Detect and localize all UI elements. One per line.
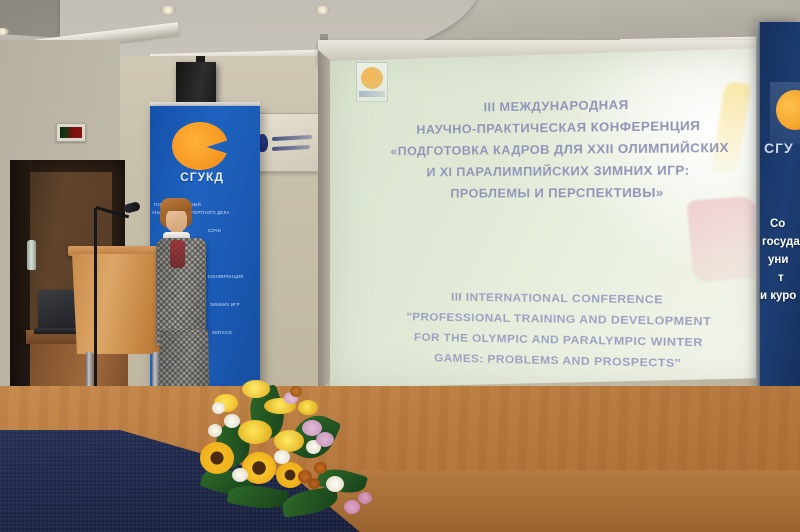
banner-right-text-line: т [778, 272, 784, 284]
exit-sign-label: illuminated-display [57, 124, 65, 125]
banner-right-text-line: и куро [760, 290, 796, 302]
banner-left-text-line: КОНФЕРЕНЦИЯ [208, 274, 243, 279]
projection-screen: III МЕЖДУНАРОДНАЯ НАУЧНО-ПРАКТИЧЕСКАЯ КО… [330, 48, 768, 388]
flower-yellow [298, 400, 318, 415]
person-scarf [170, 240, 185, 268]
stage-front [330, 470, 800, 532]
display-screen [60, 127, 82, 138]
banner-left-text-line: СОЧИ [208, 228, 221, 233]
hotel-plaque: Марко Поло Отель Marco Polo Hotel [251, 113, 321, 172]
flower-pink [316, 432, 334, 447]
flower-white [274, 450, 290, 464]
conference-hall-photo: illuminated-display Марко Поло Отель Mar… [0, 0, 800, 532]
flower-orange [308, 478, 320, 489]
logo-c-shape [172, 122, 228, 170]
flower-yellow [242, 380, 270, 398]
screen-left-edge [318, 50, 331, 392]
flower-orange [290, 386, 302, 397]
person-description: Woman in checkered dress with white blou… [156, 238, 176, 239]
floral-arrangement [198, 378, 384, 528]
flower-sunflower [200, 442, 234, 474]
downlight-icon [160, 6, 176, 14]
flower-yellow [274, 430, 304, 452]
flower-white [208, 424, 222, 437]
flower-white [212, 402, 225, 414]
flower-yellow [238, 420, 272, 444]
illuminated-display: illuminated-display [56, 123, 86, 142]
water-bottle [27, 240, 36, 270]
banner-right-text-line: Со [770, 218, 785, 230]
banner-right-text-line: государ [762, 236, 800, 248]
flower-white [224, 414, 240, 428]
flower-white [326, 476, 344, 492]
banner-right-logo-word: СГУ [764, 140, 794, 156]
slide-ru-line-5: ПРОБЛЕМЫ И ПЕРСПЕКТИВЫ» [330, 181, 798, 205]
flower-pink [344, 500, 360, 514]
sgukd-logo-icon: СГУКД [172, 122, 230, 178]
slide-english-title: III INTERNATIONAL CONFERENCE "PROFESSION… [330, 286, 798, 377]
banner-left-text-line: SERVICE [212, 330, 232, 335]
door-opening [10, 160, 32, 422]
banner-left-logo-word: СГУКД [174, 170, 230, 184]
slide-russian-title: III МЕЖДУНАРОДНАЯ НАУЧНО-ПРАКТИЧЕСКАЯ КО… [330, 91, 798, 205]
slide-text-block: III МЕЖДУНАРОДНАЯ НАУЧНО-ПРАКТИЧЕСКАЯ КО… [330, 35, 798, 401]
banner-left-text-line: ЗИМНИХ ИГР [210, 302, 240, 307]
slide-ru-line-3: «ПОДГОТОВКА КАДРОВ ДЛЯ XXII ОЛИМПИЙСКИХ [330, 136, 798, 163]
person-hair-front [160, 198, 192, 211]
flower-orange [314, 462, 327, 474]
banner-right-text-line: уни [768, 254, 788, 266]
flower-sunflower [242, 452, 276, 484]
ceiling-speaker [176, 62, 216, 106]
downlight-icon [315, 6, 330, 14]
sgu-logo-icon [770, 82, 800, 144]
logo-circle-shape [776, 90, 800, 130]
flower-pink [358, 492, 372, 504]
slide-ru-line-4: И XI ПАРАЛИМПИЙСКИХ ЗИМНИХ ИГР: [330, 159, 798, 184]
flower-white [232, 468, 248, 482]
